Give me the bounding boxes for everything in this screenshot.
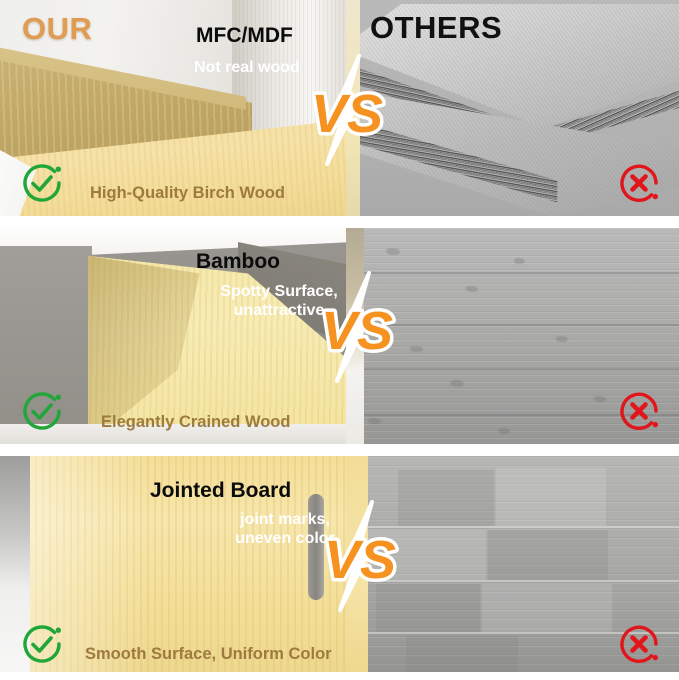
jointed-board-block (398, 470, 494, 526)
comparison-infographic: OUR High-Quality Birch Wood OTHERS MFC/M… (0, 0, 679, 680)
vs-label: VS (324, 530, 396, 590)
bamboo-spot (556, 336, 568, 342)
cross-circle-icon (615, 620, 663, 668)
theirs-title: OTHERS (370, 10, 502, 46)
jointed-board-block (488, 530, 608, 580)
jointed-board-block (496, 468, 606, 526)
theirs-subtext-1: Not real wood (194, 59, 300, 78)
bamboo-spot (466, 286, 478, 292)
check-circle-icon (18, 387, 66, 435)
vs-badge-icon: VS VS (315, 271, 401, 383)
bamboo-spot (368, 418, 381, 424)
vs-label: VS (321, 301, 393, 361)
theirs-heading-2: Bamboo (196, 250, 280, 274)
ours-caption-2: Elegantly Crained Wood (101, 413, 290, 432)
bamboo-spot (410, 346, 423, 352)
theirs-heading-3: Jointed Board (150, 479, 291, 503)
ours-caption-1: High-Quality Birch Wood (90, 184, 285, 203)
bamboo-spot (514, 258, 525, 264)
cross-circle-icon (615, 159, 663, 207)
bamboo-spot (498, 428, 510, 434)
jointed-board-block (406, 636, 518, 672)
ours-title: OUR (22, 11, 92, 47)
theirs-heading-1: MFC/MDF (196, 24, 293, 48)
check-circle-icon (18, 159, 66, 207)
bamboo-spot (594, 396, 606, 402)
ours-caption-3: Smooth Surface, Uniform Color (85, 645, 332, 664)
jointed-board-block (482, 584, 612, 632)
vs-badge-icon: VS VS (318, 500, 404, 612)
vs-label: VS (311, 84, 383, 144)
bamboo-spot (450, 380, 464, 387)
bamboo-spot (386, 248, 400, 255)
vs-badge-icon: VS VS (305, 54, 391, 166)
cross-circle-icon (615, 387, 663, 435)
check-circle-icon (18, 620, 66, 668)
